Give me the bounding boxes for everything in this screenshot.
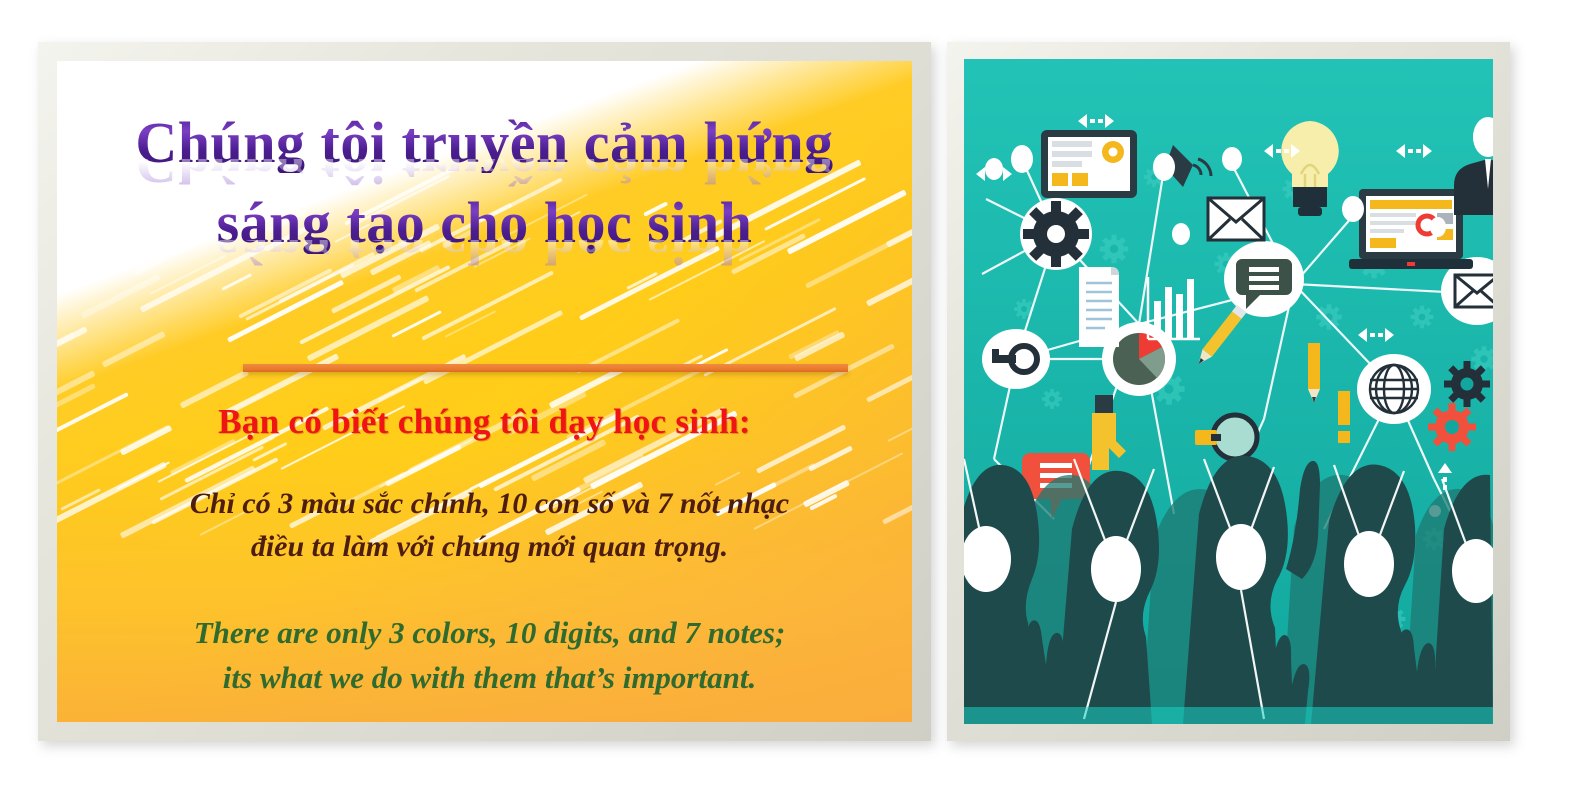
network-connectivity-illustration — [964, 59, 1493, 724]
right-picture-frame — [947, 42, 1510, 741]
tablet-icon — [1041, 130, 1137, 198]
globe-icon — [1357, 354, 1431, 424]
english-line-2: its what we do with them that’s importan… — [97, 656, 882, 701]
vietnamese-line-2: điều ta làm với chúng mới quan trọng. — [97, 526, 882, 569]
gear-icon — [1020, 198, 1092, 270]
left-panel-canvas: Chúng tôi truyền cảm hứng Chúng tôi truy… — [57, 61, 912, 722]
right-panel-inner — [964, 59, 1493, 724]
illustration-svg — [964, 59, 1493, 724]
red-gear-icon — [1428, 403, 1476, 451]
slide-canvas: Chúng tôi truyền cảm hứng Chúng tôi truy… — [0, 0, 1593, 787]
slide-title: Chúng tôi truyền cảm hứng Chúng tôi truy… — [57, 113, 912, 274]
left-picture-frame: Chúng tôi truyền cảm hứng Chúng tôi truy… — [38, 42, 931, 741]
english-body-text: There are only 3 colors, 10 digits, and … — [97, 611, 882, 701]
speech-bubble-icon — [1224, 241, 1304, 317]
vietnamese-line-1: Chỉ có 3 màu sắc chính, 10 con số và 7 n… — [97, 483, 882, 526]
gear-icon — [1444, 361, 1490, 407]
title-line-2-reflection: sáng tạo cho học sinh — [57, 240, 912, 274]
left-panel-inner: Chúng tôi truyền cảm hứng Chúng tôi truy… — [57, 61, 912, 722]
key-icon — [982, 329, 1050, 389]
exclamation-icon — [1338, 391, 1350, 443]
red-question-text: Bạn có biết chúng tôi dạy học sinh: — [57, 402, 912, 442]
orange-divider-rule — [243, 364, 848, 372]
envelope-icon — [1208, 198, 1264, 240]
english-line-1: There are only 3 colors, 10 digits, and … — [97, 611, 882, 656]
document-icon — [1079, 267, 1119, 347]
vietnamese-body-text: Chỉ có 3 màu sắc chính, 10 con số và 7 n… — [97, 483, 882, 568]
title-line-1-reflection: Chúng tôi truyền cảm hứng — [57, 159, 912, 193]
